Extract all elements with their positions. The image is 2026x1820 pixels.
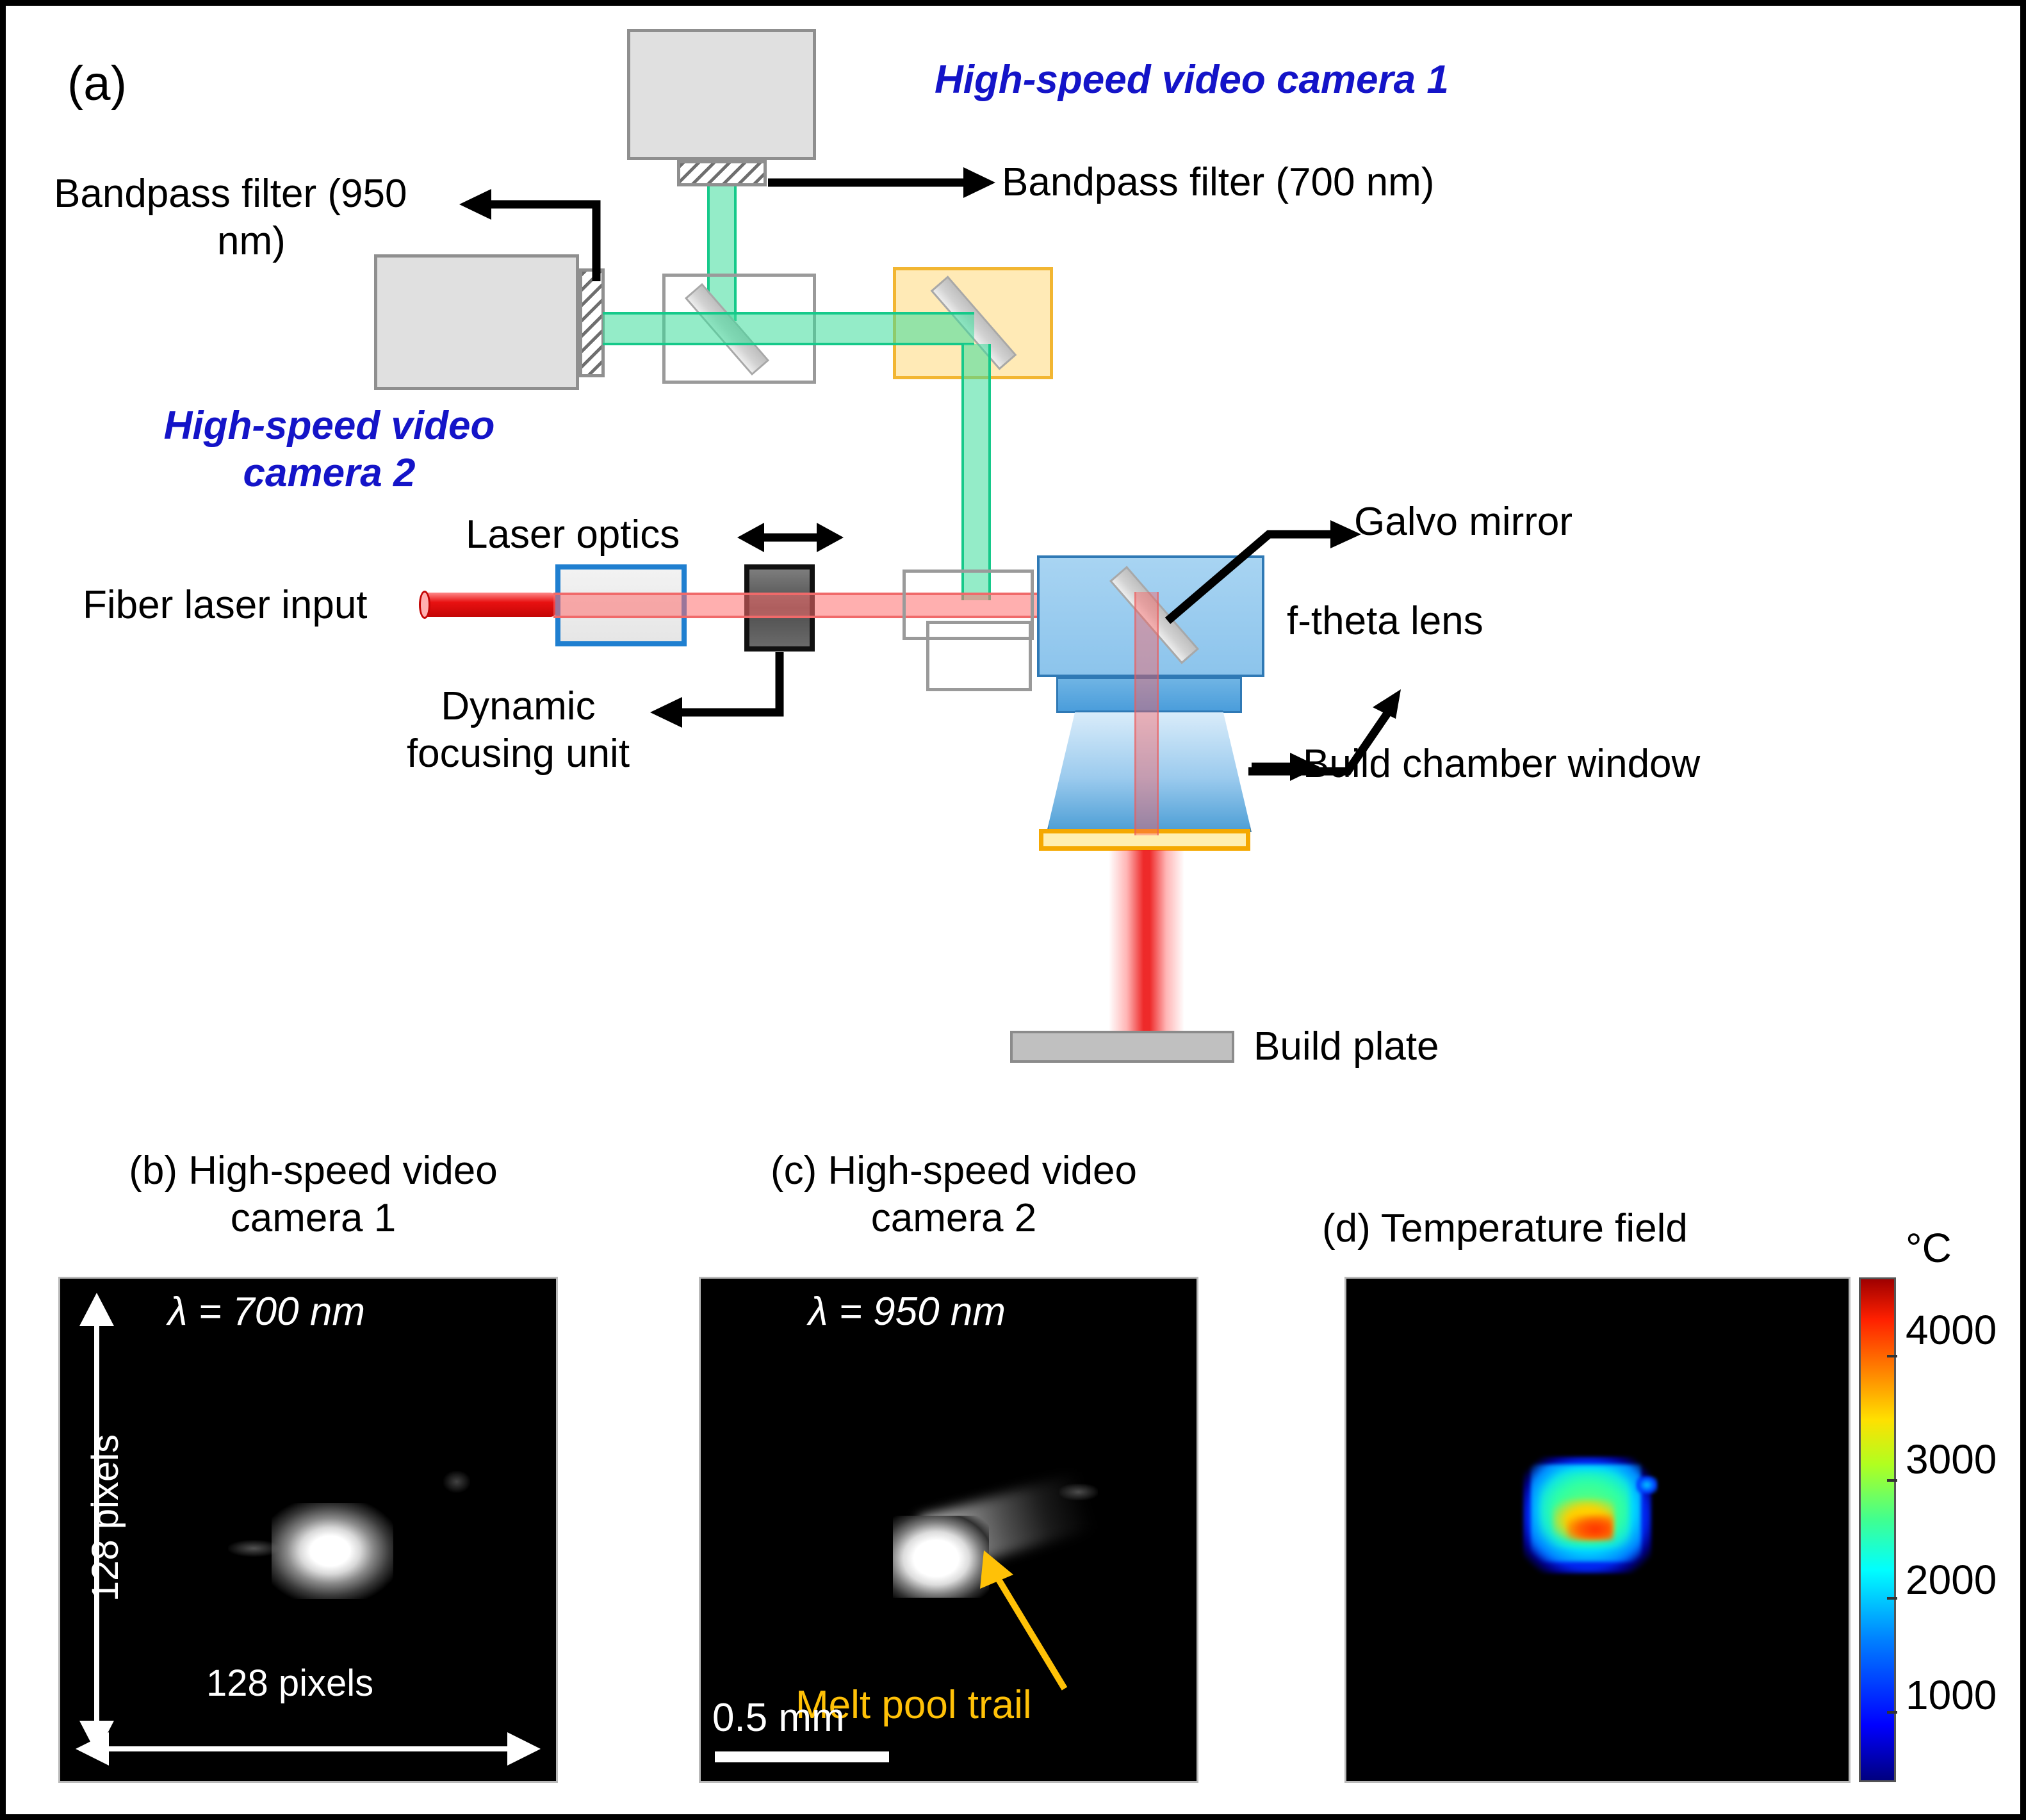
temp-blob-hot-core: [1567, 1514, 1613, 1540]
colorbar-tick-1000: [1887, 1711, 1897, 1714]
panel-c-image: λ = 950 nm Melt pool trail 0.5 mm: [699, 1277, 1198, 1783]
panel-c-scalebar-label: 0.5 mm: [712, 1695, 845, 1741]
fiber-laser-tip: [422, 593, 557, 617]
panel-a-label: (a): [67, 56, 127, 112]
temperature-colorbar: [1859, 1277, 1896, 1782]
colorbar-tick-4000: [1887, 1355, 1897, 1357]
fiber-laser-tip-endcap: [419, 591, 430, 619]
fiber-laser-input-label: Fiber laser input: [83, 582, 368, 628]
green-beam-vertical-down: [961, 344, 991, 600]
dynamic-focusing-label-line2: focusing unit: [390, 731, 646, 777]
spatter-left-b: [228, 1540, 279, 1557]
build-plate-label: Build plate: [1254, 1024, 1439, 1070]
panel-b-image: λ = 700 nm 128 pixels 128 pixels: [58, 1277, 558, 1783]
panel-c-title: (c) High-speed video camera 2: [685, 1147, 1223, 1243]
bandpass-950-label-line2: nm): [217, 218, 286, 265]
bandpass-950-arrow: [454, 179, 608, 288]
camera-2-label-line2: camera 2: [124, 450, 534, 496]
bandpass-700-arrow: [768, 160, 999, 211]
panel-b-width-arrow: [76, 1727, 541, 1771]
panel-b-title-line2: camera 1: [44, 1195, 582, 1242]
build-plate-element: [1010, 1031, 1234, 1063]
camera-1-label: High-speed video camera 1: [935, 57, 1449, 103]
panel-b-width-label: 128 pixels: [206, 1662, 373, 1705]
panel-b-height-label: 128 pixels: [84, 1434, 127, 1602]
panel-c-wavelength: λ = 950 nm: [808, 1289, 1006, 1334]
camera-2-label-line1: High-speed video: [124, 403, 534, 449]
panel-b-wavelength: λ = 700 nm: [168, 1289, 365, 1334]
figure-root: (a) High-speed video camera 1 Bandpass f…: [0, 0, 2026, 1820]
dynamic-focusing-label-line1: Dynamic: [390, 684, 646, 730]
focus-travel-double-arrow: [736, 515, 845, 560]
melt-pool-trail-arrow: [957, 1535, 1098, 1695]
beam-mount-housing-lower: [926, 621, 1032, 691]
temp-blob-satellite: [1636, 1476, 1658, 1494]
panel-b-title-line1: (b) High-speed video: [44, 1147, 582, 1195]
spatter-right-b: [443, 1471, 470, 1493]
colorbar-tick-3000: [1887, 1479, 1897, 1482]
bandpass-700-label: Bandpass filter (700 nm): [1002, 160, 1434, 206]
build-chamber-window-arrow: [1252, 741, 1322, 792]
panel-b-title: (b) High-speed video camera 1: [44, 1147, 582, 1243]
colorbar-label-4000: 4000: [1906, 1306, 1997, 1354]
colorbar-label-1000: 1000: [1906, 1671, 1997, 1719]
panel-d-image: [1344, 1277, 1850, 1783]
melt-pool-spot-b: [272, 1503, 393, 1599]
panel-d-title: (d) Temperature field: [1322, 1205, 1834, 1252]
bandpass-filter-700-element: [677, 160, 767, 186]
colorbar-label-3000: 3000: [1906, 1436, 1997, 1483]
red-beam-to-build-plate: [1109, 850, 1184, 1049]
laser-optics-label: Laser optics: [466, 512, 680, 558]
dynamic-focusing-arrow: [640, 650, 794, 739]
bandpass-950-label-line1: Bandpass filter (950: [54, 171, 407, 217]
galvo-mirror-label: Galvo mirror: [1354, 499, 1573, 545]
panel-c-title-line2: camera 2: [685, 1195, 1223, 1242]
panel-c-scalebar: [715, 1751, 889, 1762]
colorbar-label-2000: 2000: [1906, 1556, 1997, 1603]
camera-1-body: [627, 29, 816, 160]
green-beam-horizontal: [603, 312, 974, 345]
build-chamber-window-label: Build chamber window: [1303, 741, 1700, 787]
colorbar-unit-label: °C: [1906, 1224, 1952, 1272]
panel-c-title-line1: (c) High-speed video: [685, 1147, 1223, 1195]
colorbar-tick-2000: [1887, 1597, 1897, 1600]
f-theta-lens-label: f-theta lens: [1287, 598, 1483, 644]
spatter-c: [1059, 1484, 1098, 1500]
